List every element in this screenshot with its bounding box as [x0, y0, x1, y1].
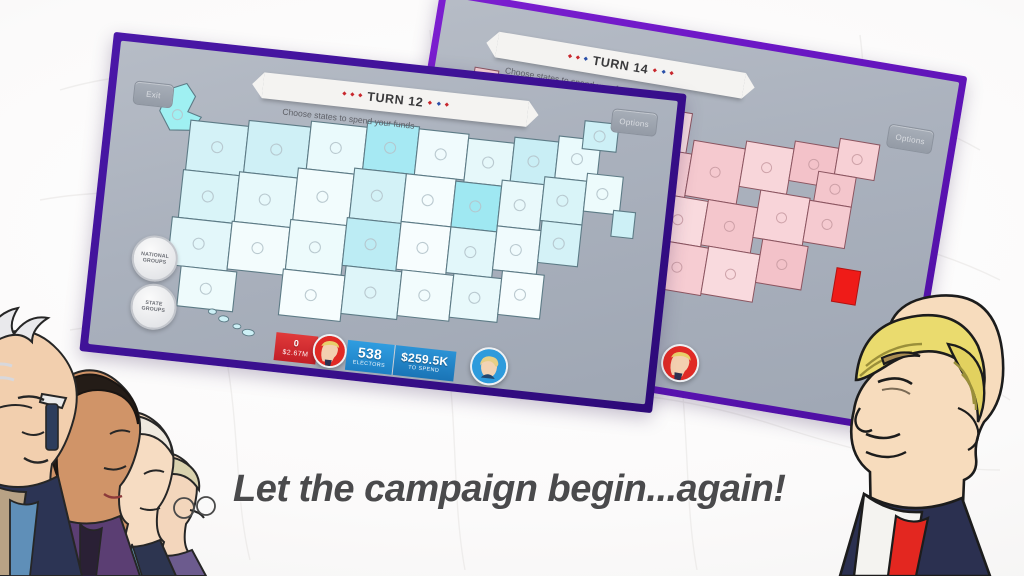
- star-icon: [350, 93, 355, 98]
- star-icon: [567, 54, 572, 59]
- star-icon: [652, 69, 657, 74]
- promo-screenshot: TURN 14 Choose states to spend your fund…: [0, 0, 1024, 576]
- star-icon: [436, 102, 441, 107]
- star-icon: [444, 103, 449, 108]
- star-icon: [661, 70, 666, 75]
- star-icon: [669, 71, 674, 76]
- opponent-chip-front: 0 $2.67M: [274, 332, 319, 364]
- star-icon: [584, 57, 589, 62]
- options-button-front[interactable]: Options: [610, 108, 658, 137]
- electors-chip-front: 538 ELECTORS: [345, 340, 395, 375]
- turn-label-front: TURN 12: [367, 90, 424, 110]
- state-dc[interactable]: [611, 210, 636, 238]
- star-icon: [428, 101, 433, 106]
- star-icon: [358, 93, 363, 98]
- turn-label-back: TURN 14: [592, 54, 650, 77]
- trump-caricature: [836, 258, 1024, 576]
- star-icon: [575, 56, 580, 61]
- star-icon: [342, 92, 347, 97]
- exit-button[interactable]: Exit: [132, 80, 174, 108]
- tagline: Let the campaign begin...again!: [233, 468, 813, 511]
- democratic-candidates-lineup: [0, 262, 244, 576]
